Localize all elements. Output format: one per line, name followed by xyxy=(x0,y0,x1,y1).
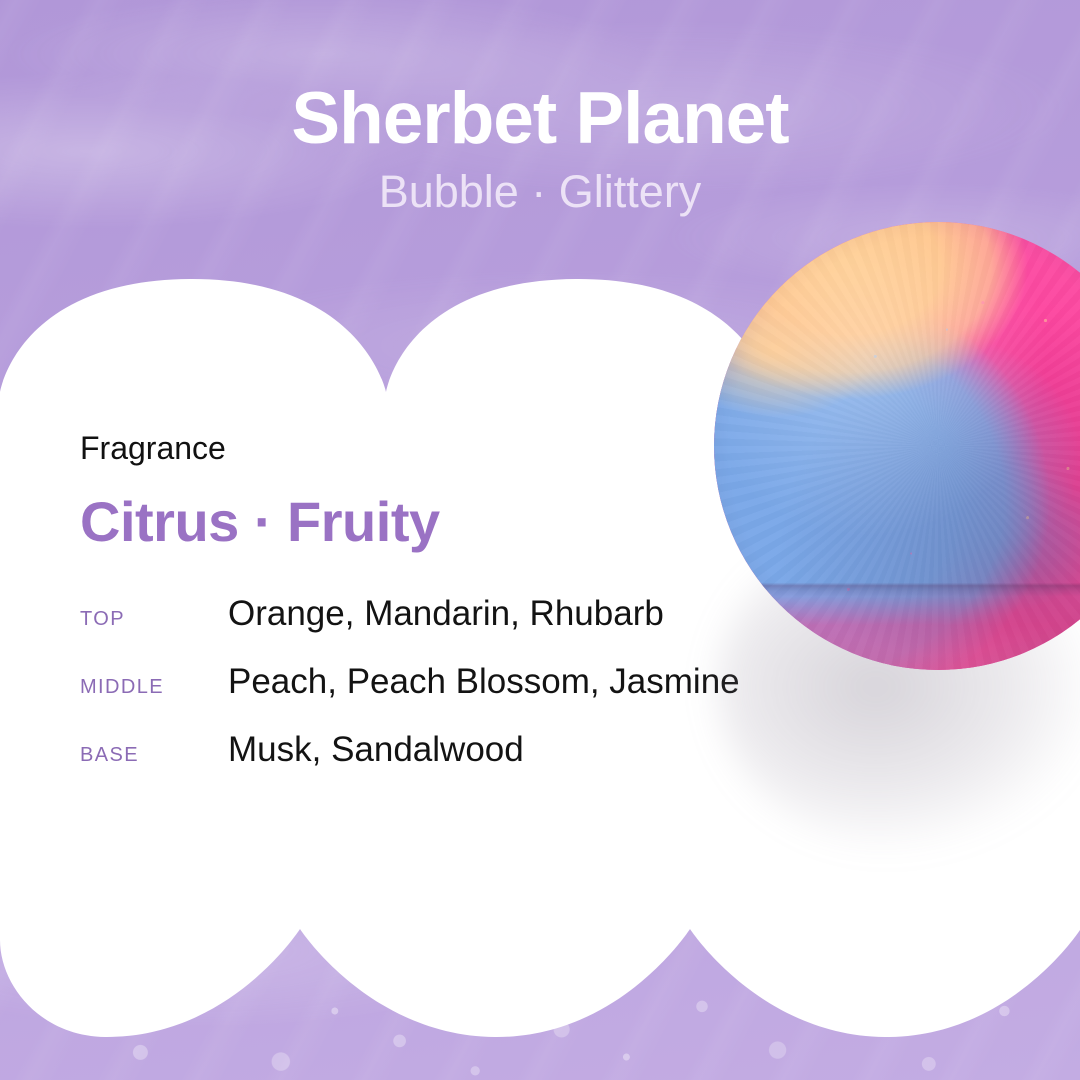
note-value-middle: Peach, Peach Blossom, Jasmine xyxy=(228,664,740,701)
note-key-middle: MIDDLE xyxy=(80,676,228,699)
note-key-base: BASE xyxy=(80,744,228,767)
product-title: Sherbet Planet xyxy=(0,0,1080,156)
note-row: MIDDLE Peach, Peach Blossom, Jasmine xyxy=(80,664,800,701)
note-row: TOP Orange, Mandarin, Rhubarb xyxy=(80,596,800,633)
fragrance-value: Citrus · Fruity xyxy=(80,464,800,550)
note-row: BASE Musk, Sandalwood xyxy=(80,732,800,769)
product-card: Sherbet Planet Bubble · Glittery Fragran… xyxy=(0,0,1080,1080)
note-key-top: TOP xyxy=(80,608,228,631)
header: Sherbet Planet Bubble · Glittery xyxy=(0,0,1080,216)
bath-bomb-sphere xyxy=(714,222,1080,670)
note-value-top: Orange, Mandarin, Rhubarb xyxy=(228,596,664,633)
note-value-base: Musk, Sandalwood xyxy=(228,732,524,769)
product-subtitle: Bubble · Glittery xyxy=(0,156,1080,215)
fragrance-label: Fragrance xyxy=(80,432,800,464)
bath-bomb-image xyxy=(706,222,1080,702)
fragrance-info: Fragrance Citrus · Fruity TOP Orange, Ma… xyxy=(80,432,800,799)
fragrance-notes-list: TOP Orange, Mandarin, Rhubarb MIDDLE Pea… xyxy=(80,596,800,768)
bomb-shading xyxy=(714,222,1080,670)
